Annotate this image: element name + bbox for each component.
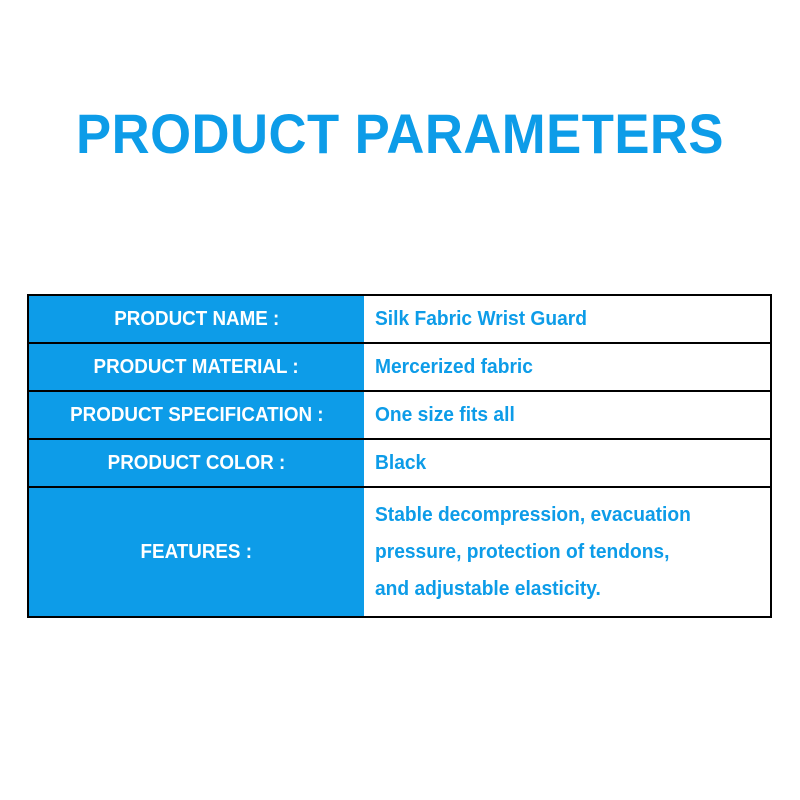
spec-value-product-material: Mercerized fabric — [364, 344, 770, 390]
product-parameters-page: PRODUCT PARAMETERS PRODUCT NAME : Silk F… — [0, 0, 800, 800]
spec-label-text: PRODUCT MATERIAL : — [94, 355, 299, 379]
spec-label-product-name: PRODUCT NAME : — [29, 296, 364, 342]
spec-label-text: PRODUCT SPECIFICATION : — [70, 403, 323, 427]
spec-label-features: FEATURES : — [29, 488, 364, 616]
spec-value-text: Black — [375, 451, 426, 475]
table-row: PRODUCT SPECIFICATION : One size fits al… — [29, 392, 770, 440]
page-title: PRODUCT PARAMETERS — [24, 101, 776, 167]
spec-value-product-name: Silk Fabric Wrist Guard — [364, 296, 770, 342]
spec-value-product-color: Black — [364, 440, 770, 486]
spec-label-text: PRODUCT COLOR : — [108, 451, 286, 475]
spec-value-features: Stable decompression, evacuation pressur… — [364, 488, 770, 616]
spec-value-text: Mercerized fabric — [375, 355, 533, 379]
table-row: PRODUCT NAME : Silk Fabric Wrist Guard — [29, 296, 770, 344]
spec-value-text: Silk Fabric Wrist Guard — [375, 307, 587, 331]
spec-label-product-material: PRODUCT MATERIAL : — [29, 344, 364, 390]
spec-value-product-specification: One size fits all — [364, 392, 770, 438]
features-line: Stable decompression, evacuation — [375, 497, 691, 534]
spec-label-text: PRODUCT NAME : — [114, 307, 279, 331]
spec-label-text: FEATURES : — [141, 540, 252, 564]
spec-value-text: One size fits all — [375, 403, 515, 427]
spec-label-product-specification: PRODUCT SPECIFICATION : — [29, 392, 364, 438]
table-row: FEATURES : Stable decompression, evacuat… — [29, 488, 770, 616]
features-text-block: Stable decompression, evacuation pressur… — [375, 497, 704, 608]
spec-label-product-color: PRODUCT COLOR : — [29, 440, 364, 486]
features-line: and adjustable elasticity. — [375, 571, 691, 608]
features-line: pressure, protection of tendons, — [375, 534, 691, 571]
table-row: PRODUCT MATERIAL : Mercerized fabric — [29, 344, 770, 392]
table-row: PRODUCT COLOR : Black — [29, 440, 770, 488]
product-spec-table: PRODUCT NAME : Silk Fabric Wrist Guard P… — [27, 294, 772, 618]
